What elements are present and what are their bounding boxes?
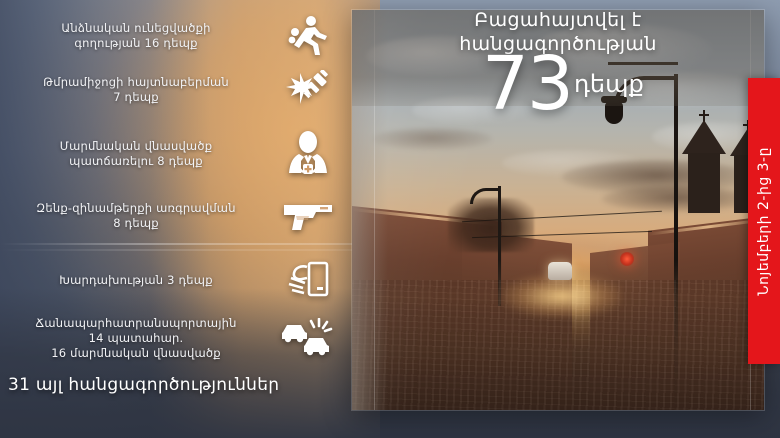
dark-cloud: [372, 128, 492, 150]
stat-label: Խարդախության 3 դեպք: [0, 273, 272, 288]
stats-list: Անձնական ունեցվածքիգողության 16 դեպք Թմր…: [0, 0, 352, 438]
traffic-light-icon: [620, 252, 634, 266]
headline-line-1: Բացահայտվել է: [352, 8, 764, 32]
street-lamp-arm-far: [470, 188, 500, 204]
medic-injury-icon: [272, 131, 344, 177]
date-banner-label: Նոյեմբերի 2-ից 3-ը: [756, 147, 772, 296]
date-banner: Նոյեմբերի 2-ից 3-ը: [748, 78, 780, 364]
stat-label: Անձնական ունեցվածքիգողության 16 դեպք: [0, 21, 272, 51]
footer-summary: 31 այլ հանցագործություններ: [8, 374, 344, 396]
tree: [448, 198, 534, 252]
drugs-leaf-syringe-icon: [272, 70, 344, 110]
headline: Բացահայտվել է հանցագործության 73 դեպք: [352, 8, 764, 115]
stat-label: Թմրամիջոցի հայտնաբերման7 դեպք: [0, 75, 272, 105]
church-dome: [682, 120, 726, 154]
stat-row-traffic: Ճանապարհատրանսպորտային14 պատահար.16 մարմ…: [0, 310, 352, 366]
stat-label: Մարմնական վնասվածքպատճառելու 8 դեպք: [0, 139, 272, 169]
headline-unit: դեպք: [574, 71, 644, 97]
stat-label: Ճանապարհատրանսպորտային14 պատահար.16 մարմ…: [0, 316, 272, 361]
stat-row-fraud: Խարդախության 3 դեպք: [0, 256, 352, 304]
theft-runner-icon: [272, 15, 344, 57]
stat-row-weapons: Զենք-զինամթերքի առգրավման8 դեպք: [0, 190, 352, 242]
car-crash-icon: [272, 318, 344, 358]
headline-figure-row: 73 դեպք: [352, 53, 764, 115]
church-tower: [688, 153, 720, 213]
car: [548, 262, 572, 280]
stat-row-injury: Մարմնական վնասվածքպատճառելու 8 դեպք: [0, 128, 352, 180]
fraud-hand-card-icon: [272, 258, 344, 302]
stat-row-theft: Անձնական ունեցվածքիգողության 16 դեպք: [0, 12, 352, 60]
headline-count: 73: [482, 47, 572, 121]
stat-row-drugs: Թմրամիջոցի հայտնաբերման7 դեպք: [0, 66, 352, 114]
infographic-root: Բացահայտվել է հանցագործության 73 դեպք Ան…: [0, 0, 780, 438]
pistol-weapon-icon: [272, 199, 344, 233]
stat-label: Զենք-զինամթերքի առգրավման8 դեպք: [0, 201, 272, 231]
road-sun-reflection: [502, 274, 622, 318]
